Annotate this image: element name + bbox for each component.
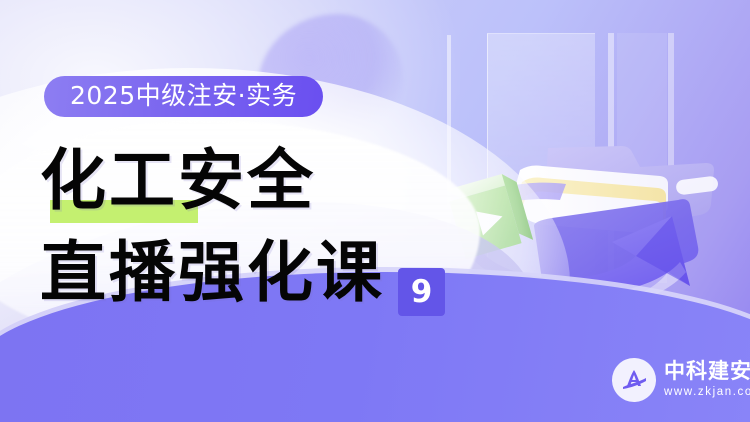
course-category-badge: 2025中级注安·实务 [44, 76, 323, 117]
headline-line-1: 化工安全 [40, 148, 470, 214]
episode-number-badge: 9 [398, 268, 445, 316]
headline-text-2: 直播强化课 [40, 240, 385, 306]
headline-text-1: 化工安全 [40, 148, 316, 214]
brand-url: www.zkjan.com [664, 385, 750, 400]
brand-name: 中科建安 [664, 360, 750, 383]
zkjan-circle-logo-icon [612, 358, 656, 402]
background-panel-divider-3 [668, 33, 674, 273]
brand-logo: 中科建安 www.zkjan.com [612, 358, 750, 402]
background-panel-divider-2 [608, 33, 614, 288]
brand-text: 中科建安 www.zkjan.com [664, 360, 750, 400]
background-panel-2 [617, 33, 667, 283]
course-promo-banner: 2025中级注安·实务 化工安全 直播强化课 9 中科建安 www.zkjan.… [0, 0, 750, 422]
